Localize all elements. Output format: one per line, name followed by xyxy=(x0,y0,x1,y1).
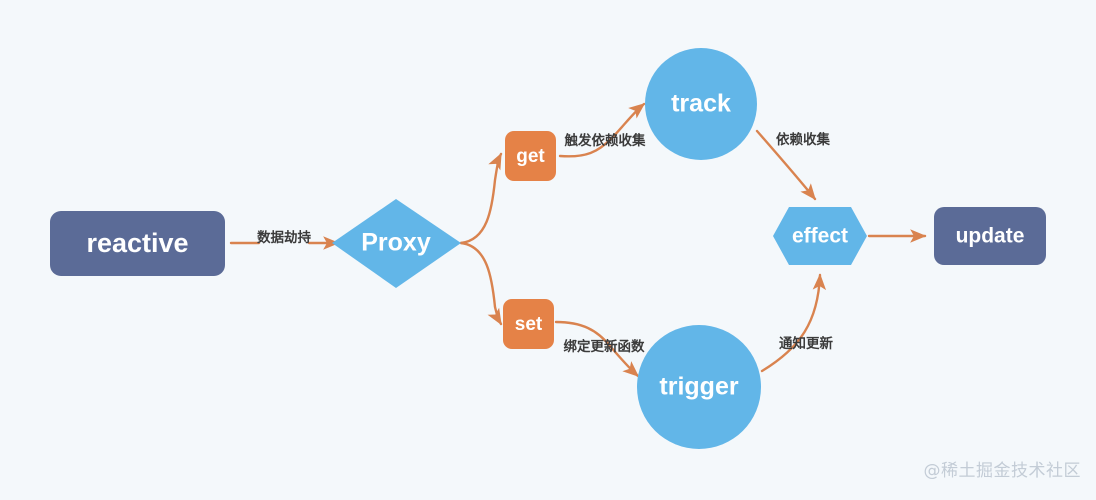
edge-set-trigger: 绑定更新函数 xyxy=(556,322,645,376)
edge-proxy-get xyxy=(461,154,501,243)
edge-get-track: 触发依赖收集 xyxy=(560,104,646,156)
node-update[interactable]: update xyxy=(934,207,1046,265)
node-proxy[interactable]: Proxy xyxy=(332,199,461,288)
edge-trigger-effect: 通知更新 xyxy=(762,275,833,371)
edge-label-set-trigger: 绑定更新函数 xyxy=(564,338,645,355)
diagram-canvas: 数据劫持 触发依赖收集 绑定更新函数 依赖 xyxy=(0,0,1096,500)
node-layer: reactive Proxy get set track xyxy=(50,48,1046,449)
edge-proxy-set xyxy=(461,243,501,324)
edge-label-track-effect: 依赖收集 xyxy=(776,131,830,148)
node-reactive[interactable]: reactive xyxy=(50,211,225,276)
edge-track-effect: 依赖收集 xyxy=(757,131,830,199)
node-effect[interactable]: effect xyxy=(773,207,867,265)
edge-label-reactive-proxy: 数据劫持 xyxy=(257,229,311,246)
edge-label-get-track: 触发依赖收集 xyxy=(565,132,646,149)
node-get[interactable]: get xyxy=(505,131,556,181)
node-set[interactable]: set xyxy=(503,299,554,349)
node-trigger[interactable]: trigger xyxy=(637,325,761,449)
node-track[interactable]: track xyxy=(645,48,757,160)
edge-reactive-proxy: 数据劫持 xyxy=(231,229,338,246)
edge-label-trigger-effect: 通知更新 xyxy=(779,335,833,352)
watermark: @稀土掘金技术社区 xyxy=(924,461,1082,481)
